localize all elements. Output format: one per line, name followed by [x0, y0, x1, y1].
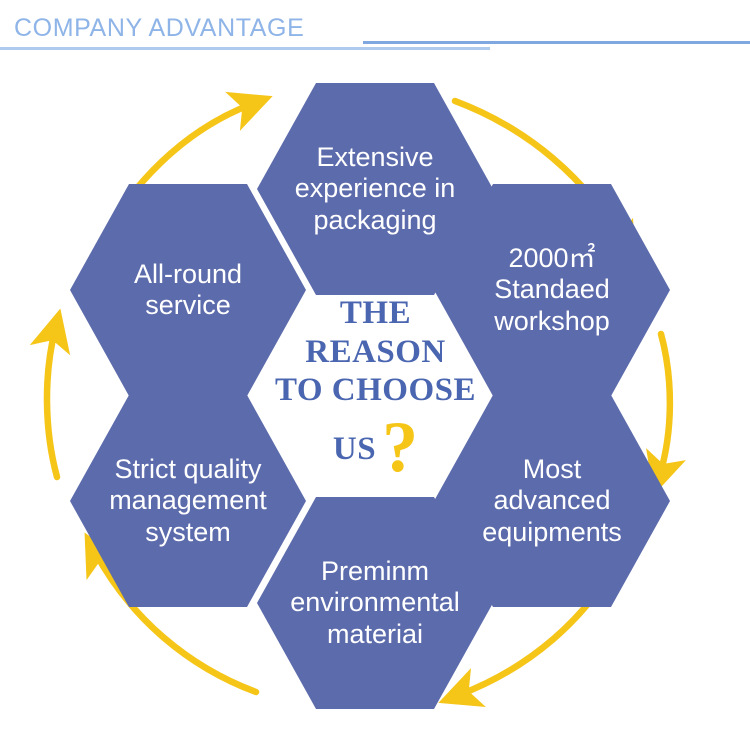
- hexagon-label: Preminm environmental materiai: [270, 556, 480, 650]
- page-header: COMPANY ADVANTAGE: [0, 0, 750, 56]
- header-rule-secondary: [0, 47, 490, 50]
- center-line-2: REASON: [268, 333, 483, 372]
- hexagon-label: All-round service: [83, 259, 293, 322]
- page-title: COMPANY ADVANTAGE: [14, 14, 304, 43]
- center-headline: THE REASON TO CHOOSE US ?: [268, 294, 483, 468]
- center-line-4: US: [333, 430, 376, 469]
- hexagon-label: Extensive experience in packaging: [270, 142, 480, 236]
- hexagon-label: Strict quality management system: [83, 454, 293, 548]
- center-line-1: THE: [268, 294, 483, 333]
- center-line-4-row: US ?: [268, 410, 483, 469]
- company-advantage-diagram: Extensive experience in packaging 2000㎡ …: [0, 56, 750, 738]
- question-mark-icon: ?: [382, 422, 418, 474]
- header-rule-primary: [363, 41, 750, 44]
- center-line-3: TO CHOOSE: [268, 371, 483, 410]
